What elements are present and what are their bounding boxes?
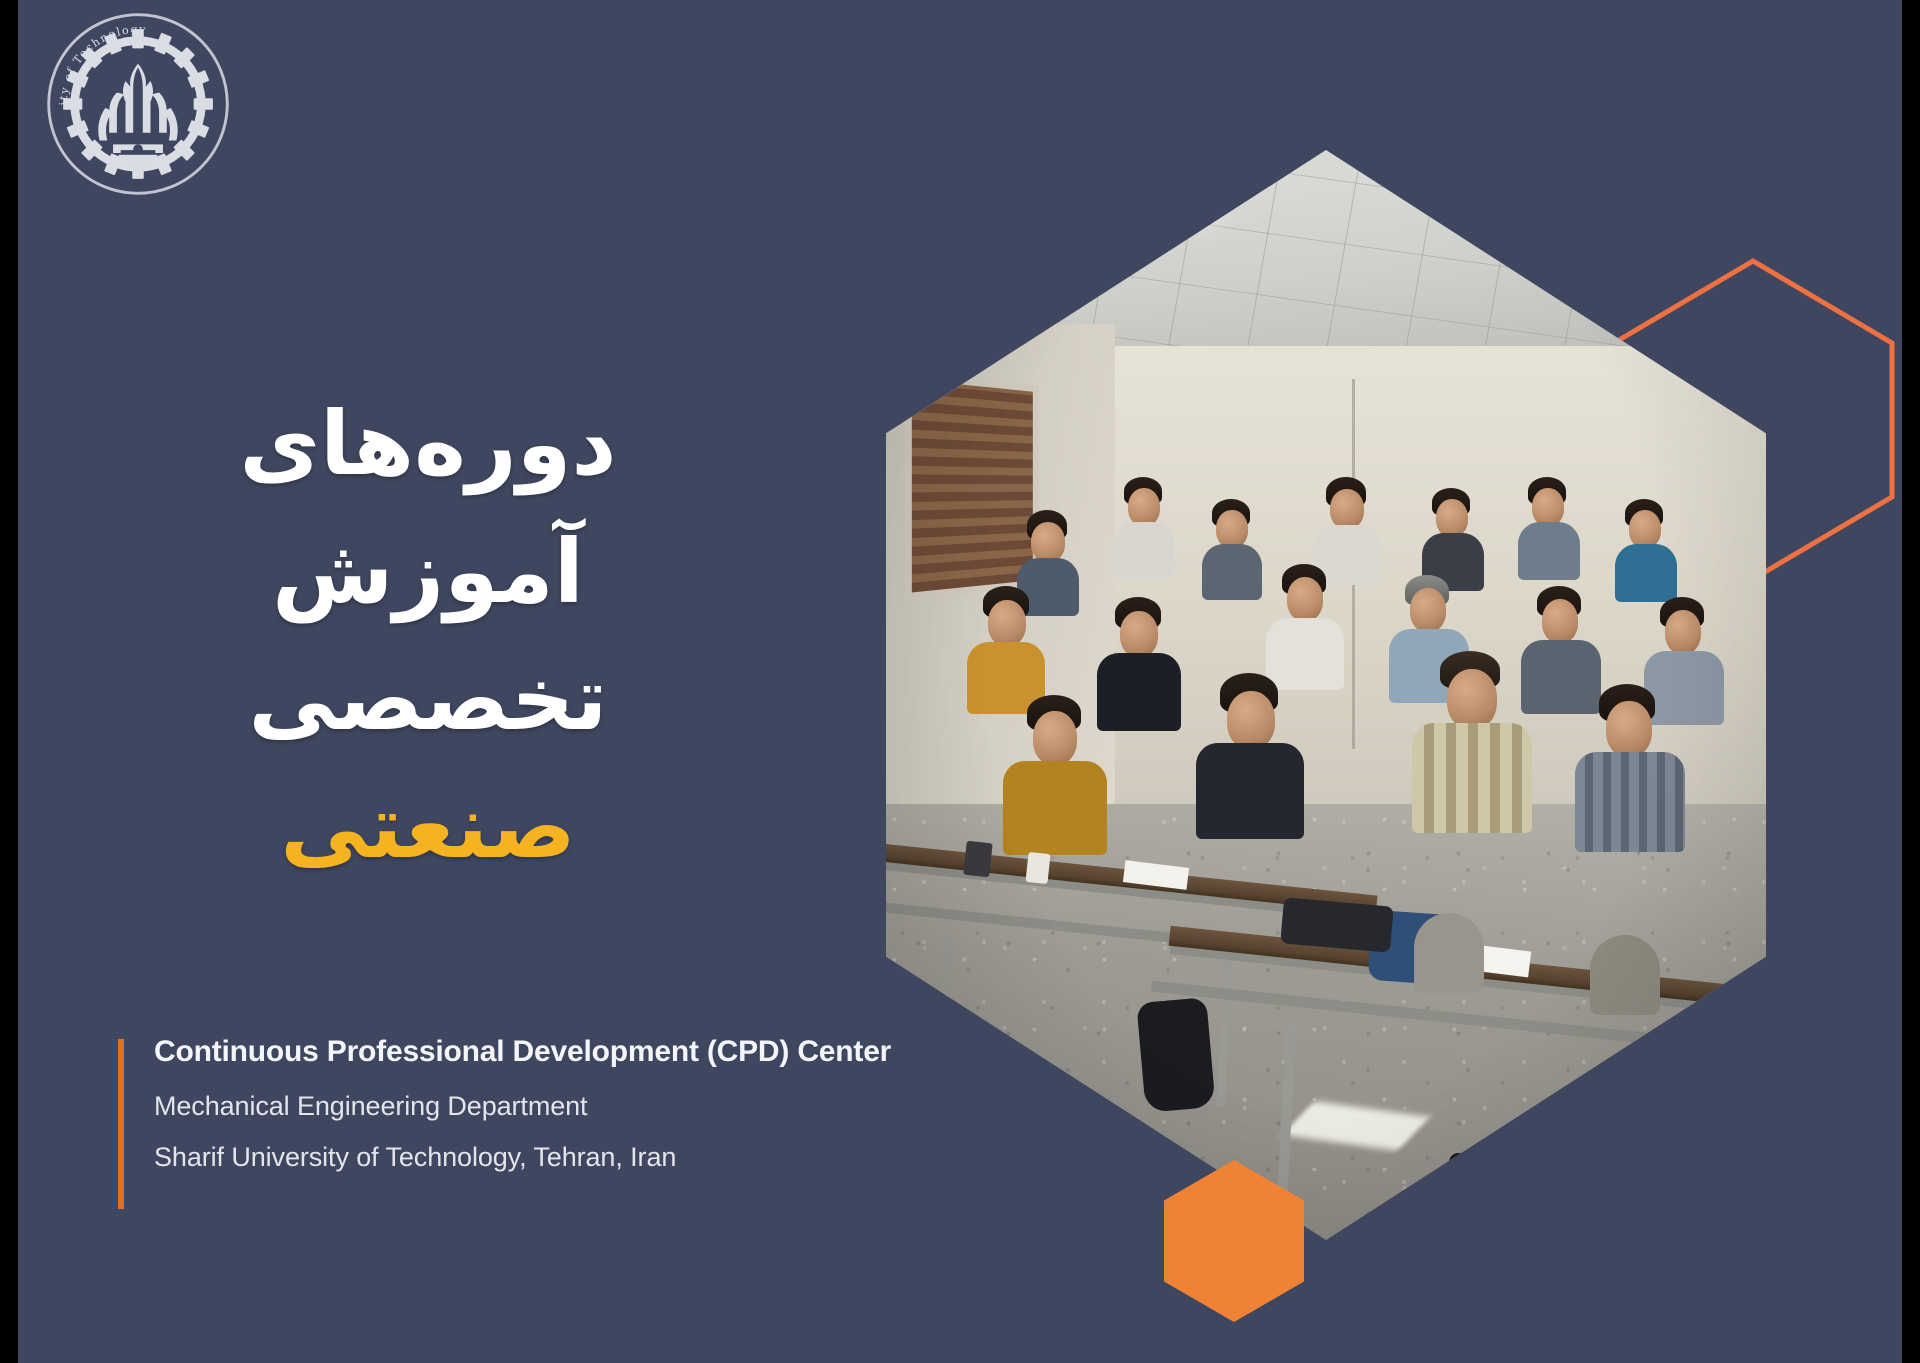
university-location: Sharif University of Technology, Tehran,…: [154, 1142, 891, 1173]
desk-leg: [1621, 1044, 1639, 1204]
page-title: دوره‌های آموزش تخصصی صنعتی: [78, 380, 778, 890]
laptop-bag: [1280, 897, 1394, 952]
shoe: [1449, 1153, 1519, 1179]
coffee-cup: [963, 841, 992, 878]
backpack: [1137, 997, 1216, 1113]
classroom-photo: [886, 150, 1766, 1240]
ceiling-tile-grid: [886, 150, 1766, 368]
department-name: Mechanical Engineering Department: [154, 1091, 891, 1122]
ceiling-vent: [950, 169, 1028, 205]
ceiling-light-2: [1478, 177, 1581, 219]
slide-root: Sharif University of Technology: [0, 0, 1920, 1363]
sharif-university-logo: Sharif University of Technology: [42, 8, 234, 200]
title-line-1: دوره‌های: [78, 380, 778, 508]
title-line-3: صنعتی: [78, 763, 778, 891]
title-slide: Sharif University of Technology: [18, 0, 1902, 1363]
footer-accent-bar: [118, 1039, 124, 1209]
footer-block: Continuous Professional Development (CPD…: [118, 1035, 891, 1193]
window-blind: [904, 371, 1038, 600]
classroom-scene: [886, 150, 1766, 1240]
chair: [1590, 935, 1660, 1015]
chair: [1414, 913, 1484, 993]
ceiling-light: [1100, 165, 1222, 208]
shoe: [1062, 1109, 1124, 1133]
cpd-center-name: Continuous Professional Development (CPD…: [154, 1035, 891, 1069]
paper-cup: [1025, 852, 1050, 884]
title-line-2: آموزش تخصصی: [78, 508, 778, 763]
ceiling: [886, 150, 1766, 368]
